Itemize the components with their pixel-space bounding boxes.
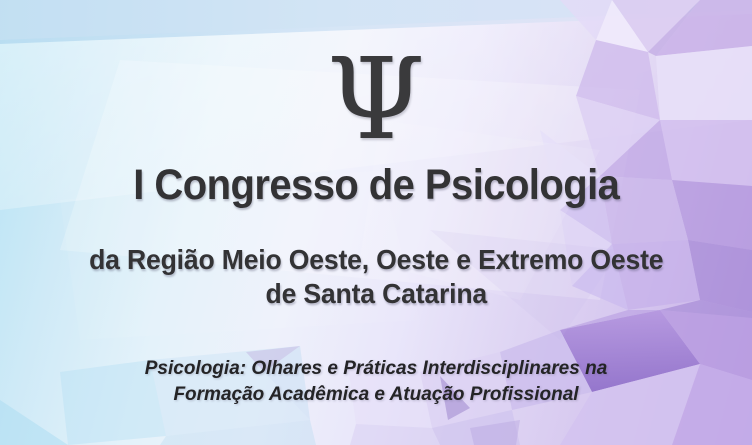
congress-subtitle: da Região Meio Oeste, Oeste e Extremo Oe… (89, 243, 663, 311)
psi-symbol-icon: Ψ (327, 44, 425, 156)
congress-title: I Congresso de Psicologia (133, 164, 619, 208)
banner-content: Ψ I Congresso de Psicologia da Região Me… (0, 0, 752, 445)
congress-subtitle-line-2: de Santa Catarina (89, 277, 663, 311)
congress-banner: Ψ I Congresso de Psicologia da Região Me… (0, 0, 752, 445)
congress-theme: Psicologia: Olhares e Práticas Interdisc… (145, 356, 608, 408)
congress-theme-line-2: Formação Acadêmica e Atuação Profissiona… (145, 382, 608, 408)
congress-subtitle-line-1: da Região Meio Oeste, Oeste e Extremo Oe… (89, 244, 663, 275)
congress-theme-line-1: Psicologia: Olhares e Práticas Interdisc… (145, 358, 608, 379)
